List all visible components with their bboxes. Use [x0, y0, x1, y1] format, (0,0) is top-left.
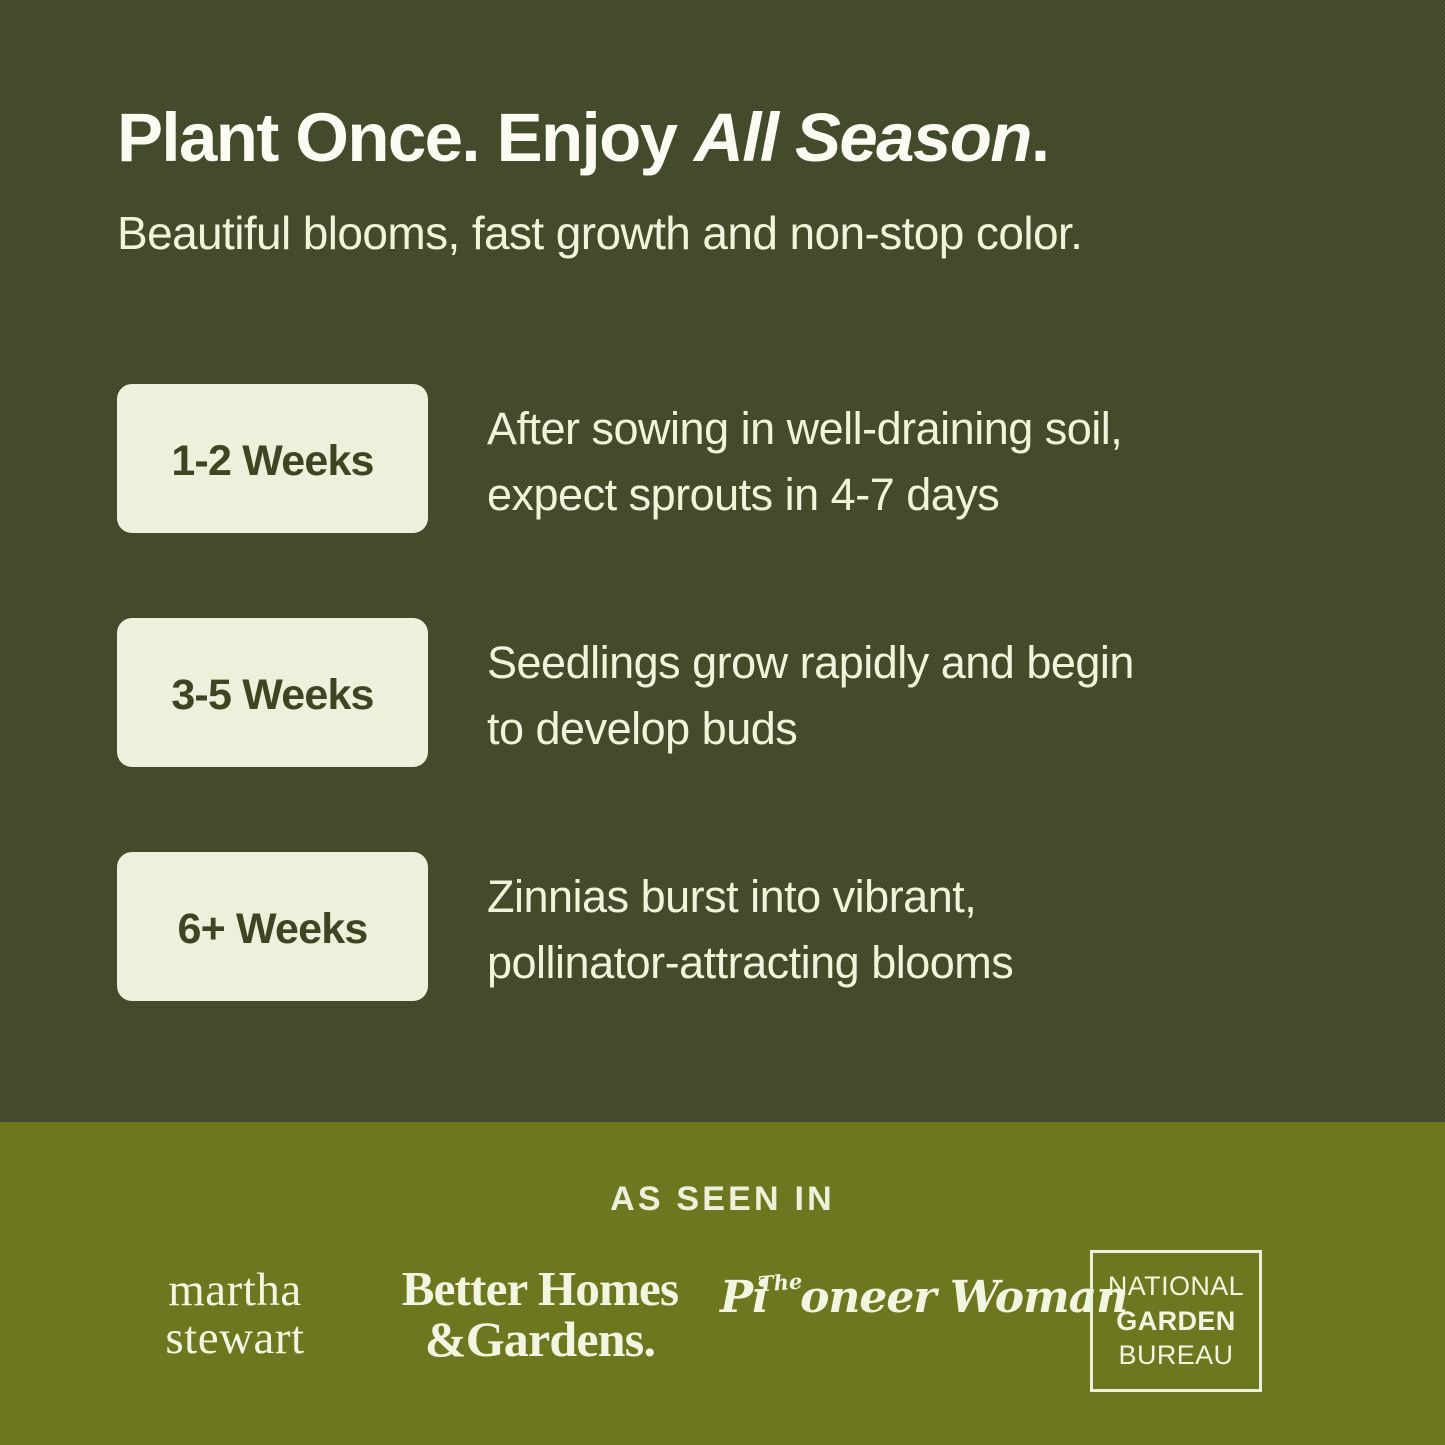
- timeline-description-2: Seedlings grow rapidly and begin to deve…: [487, 630, 1357, 762]
- pioneer-woman-logo: PiTheoneer Woman: [720, 1276, 1040, 1320]
- martha-stewart-logo: martha stewart: [110, 1267, 360, 1363]
- timeline-description-line: Seedlings grow rapidly and begin: [487, 630, 1357, 696]
- timeline-description-3: Zinnias burst into vibrant, pollinator-a…: [487, 864, 1357, 996]
- headline-emphasis: All Season: [694, 99, 1031, 176]
- pioneer-woman-logo-the: The: [757, 1270, 803, 1294]
- timeline-description-line: After sowing in well-draining soil,: [487, 396, 1357, 462]
- headline-lead: Plant Once. Enjoy: [117, 99, 694, 176]
- page-title: Plant Once. Enjoy All Season.: [117, 103, 1347, 173]
- timeline-description-line: pollinator-attracting blooms: [487, 930, 1357, 996]
- press-logo-strip: martha stewart Better Homes &Gardens. Pi…: [90, 1250, 1355, 1400]
- timeline-description-line: expect sprouts in 4-7 days: [487, 462, 1357, 528]
- timeline-badge-3: 6+ Weeks: [117, 852, 428, 1001]
- timeline-description-line: to develop buds: [487, 696, 1357, 762]
- timeline-description-1: After sowing in well-draining soil, expe…: [487, 396, 1357, 528]
- martha-stewart-logo-line2: stewart: [110, 1315, 360, 1363]
- as-seen-in-eyebrow: AS SEEN IN: [0, 1180, 1445, 1219]
- as-seen-in-band: AS SEEN IN martha stewart Better Homes &…: [0, 1122, 1445, 1445]
- national-garden-bureau-logo: NATIONAL GARDEN BUREAU: [1090, 1250, 1262, 1392]
- hero-panel: Plant Once. Enjoy All Season. Beautiful …: [0, 0, 1445, 1122]
- national-garden-bureau-line2: GARDEN: [1116, 1304, 1235, 1339]
- martha-stewart-logo-line1: martha: [110, 1267, 360, 1315]
- national-garden-bureau-line3: BUREAU: [1119, 1338, 1234, 1373]
- timeline-badge-label: 1-2 Weeks: [171, 440, 373, 483]
- timeline-badge-1: 1-2 Weeks: [117, 384, 428, 533]
- timeline-badge-2: 3-5 Weeks: [117, 618, 428, 767]
- timeline-row: 3-5 Weeks Seedlings grow rapidly and beg…: [117, 618, 1357, 767]
- timeline-row: 1-2 Weeks After sowing in well-draining …: [117, 384, 1357, 533]
- better-homes-gardens-logo-line1: Better Homes: [380, 1264, 700, 1314]
- headline-tail: .: [1031, 99, 1049, 176]
- timeline-row: 6+ Weeks Zinnias burst into vibrant, pol…: [117, 852, 1357, 1001]
- national-garden-bureau-line1: NATIONAL: [1108, 1269, 1244, 1304]
- growth-timeline: 1-2 Weeks After sowing in well-draining …: [117, 384, 1357, 1001]
- better-homes-gardens-logo-line2: &Gardens.: [380, 1314, 700, 1365]
- timeline-badge-label: 3-5 Weeks: [171, 674, 373, 717]
- promo-poster: Plant Once. Enjoy All Season. Beautiful …: [0, 0, 1445, 1445]
- pioneer-woman-logo-post: oneer Woman: [800, 1272, 1127, 1323]
- timeline-description-line: Zinnias burst into vibrant,: [487, 864, 1357, 930]
- timeline-badge-label: 6+ Weeks: [177, 908, 367, 951]
- better-homes-gardens-logo: Better Homes &Gardens.: [380, 1264, 700, 1365]
- page-subtitle: Beautiful blooms, fast growth and non-st…: [117, 208, 1357, 259]
